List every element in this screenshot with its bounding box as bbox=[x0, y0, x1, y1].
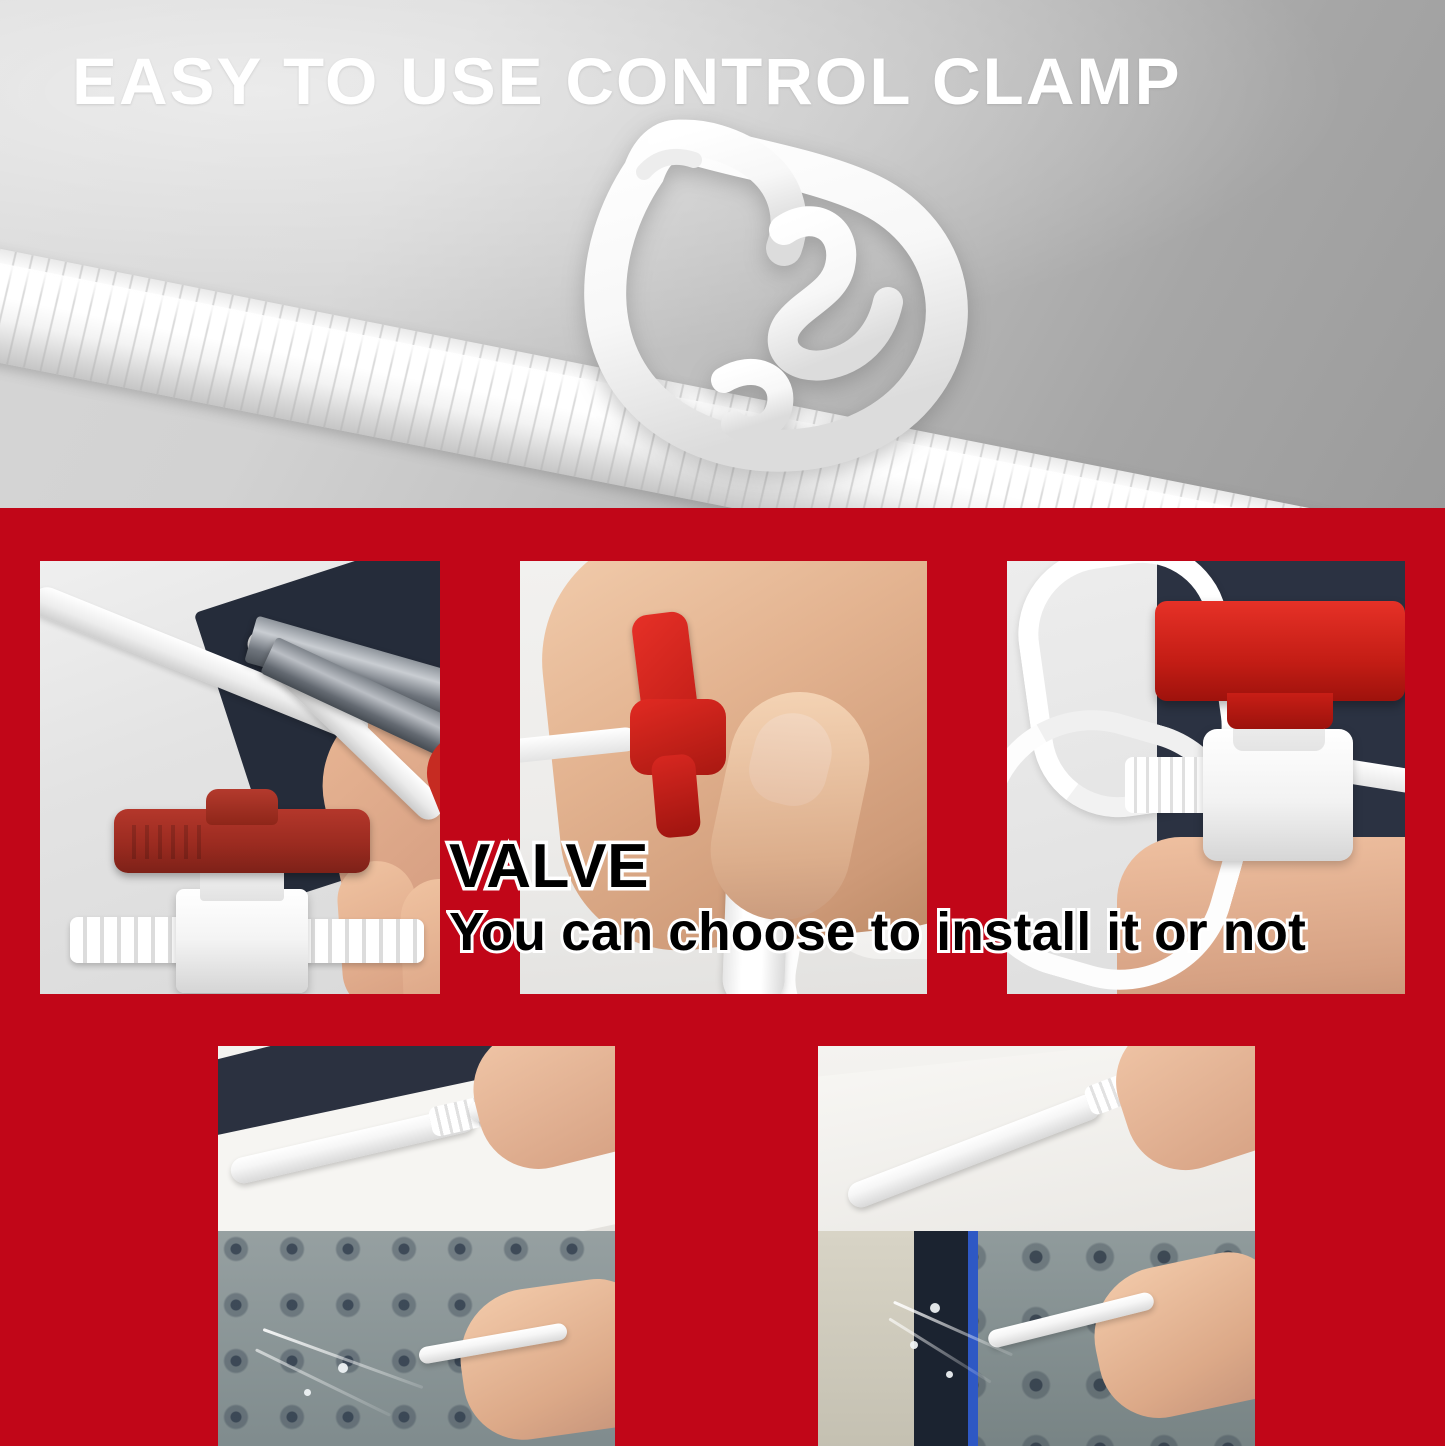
hose-clamp-icon bbox=[548, 80, 978, 480]
wall-edge bbox=[818, 1231, 914, 1446]
usage-bottom-scene bbox=[818, 1231, 1255, 1446]
step-panel-cut-hose bbox=[40, 561, 440, 994]
valve-stem bbox=[651, 753, 702, 839]
red-divider-top bbox=[0, 508, 1445, 545]
usage-panel-right bbox=[818, 1046, 1255, 1446]
water-droplet bbox=[338, 1363, 348, 1373]
valve-barb-left bbox=[70, 917, 186, 963]
water-droplet bbox=[946, 1371, 953, 1378]
hero-section: EASY TO USE CONTROL CLAMP bbox=[0, 0, 1445, 508]
valve-icon bbox=[68, 789, 428, 994]
valve-icon bbox=[624, 613, 736, 823]
caption-subtitle: You can choose to install it or not bbox=[449, 903, 1430, 961]
usage-bottom-scene bbox=[218, 1231, 615, 1446]
water-droplet bbox=[930, 1303, 940, 1313]
valve-caption: VALVE You can choose to install it or no… bbox=[449, 835, 1445, 961]
usage-top-scene bbox=[218, 1046, 615, 1231]
valve-handle bbox=[114, 809, 370, 873]
usage-row bbox=[0, 994, 1445, 1446]
page-title: EASY TO USE CONTROL CLAMP bbox=[72, 44, 1418, 120]
usage-top-scene bbox=[818, 1046, 1255, 1231]
caption-title: VALVE bbox=[449, 835, 1445, 899]
usage-panel-left bbox=[218, 1046, 615, 1446]
valve-barb-right bbox=[298, 919, 424, 963]
water-droplet bbox=[910, 1341, 918, 1349]
infographic-page: EASY TO USE CONTROL CLAMP bbox=[0, 0, 1445, 1446]
water-droplet bbox=[304, 1389, 311, 1396]
t-handle-valve-icon bbox=[1155, 601, 1405, 701]
valve-body bbox=[176, 889, 308, 993]
